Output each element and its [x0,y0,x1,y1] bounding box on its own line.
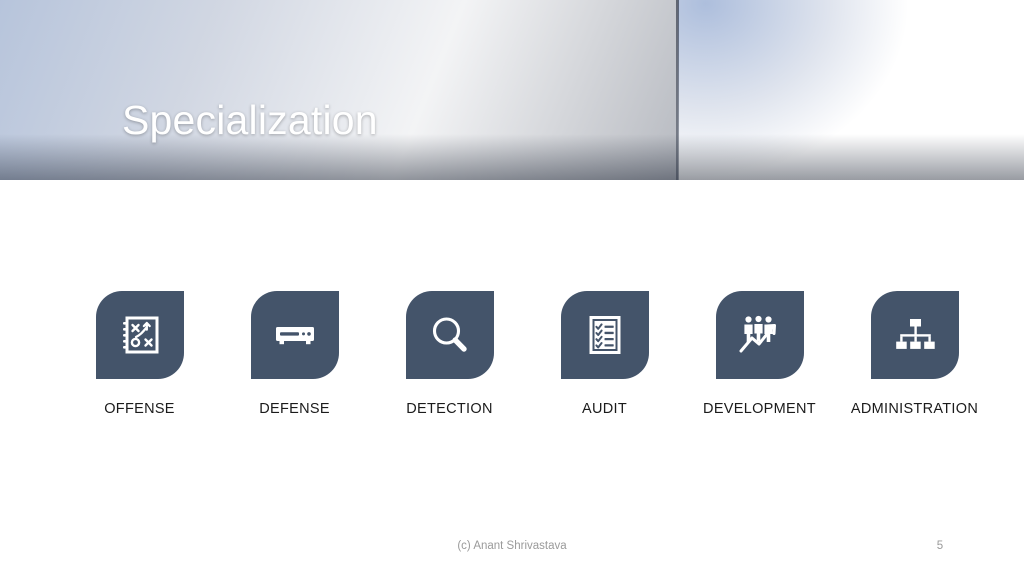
specialization-label-defense: DEFENSE [259,401,330,417]
footer-credit: (c) Anant Shrivastava [0,540,1024,552]
specialization-item-defense[interactable]: DEFENSE [217,291,372,417]
specialization-item-audit[interactable]: AUDIT [527,291,682,417]
slide-header-banner [0,0,1024,180]
specialization-item-detection[interactable]: DETECTION [372,291,527,417]
page-title: Specialization [122,97,378,144]
specialization-icon-row: OFFENSE [62,291,992,426]
specialization-item-offense[interactable]: OFFENSE [62,291,217,417]
specialization-item-development[interactable]: DEVELOPMENT [682,291,837,417]
specialization-label-offense: OFFENSE [104,401,175,417]
specialization-label-development: DEVELOPMENT [703,401,816,417]
specialization-label-audit: AUDIT [582,401,627,417]
specialization-tile-offense[interactable] [96,291,184,379]
magnifying-glass-icon [427,312,473,358]
strategy-playbook-icon [118,313,162,357]
specialization-tile-administration[interactable] [871,291,959,379]
specialization-label-detection: DETECTION [406,401,492,417]
specialization-tile-defense[interactable] [251,291,339,379]
checklist-icon [583,313,627,357]
presentation-slide: Specialization [0,0,1024,576]
specialization-tile-detection[interactable] [406,291,494,379]
specialization-tile-audit[interactable] [561,291,649,379]
slide-page-number: 5 [900,540,980,552]
specialization-tile-development[interactable] [716,291,804,379]
team-growth-chart-icon [736,311,784,359]
firewall-appliance-icon [272,312,318,358]
specialization-item-administration[interactable]: ADMINISTRATION [837,291,992,417]
specialization-label-administration: ADMINISTRATION [851,401,978,417]
org-chart-hierarchy-icon [892,312,938,358]
